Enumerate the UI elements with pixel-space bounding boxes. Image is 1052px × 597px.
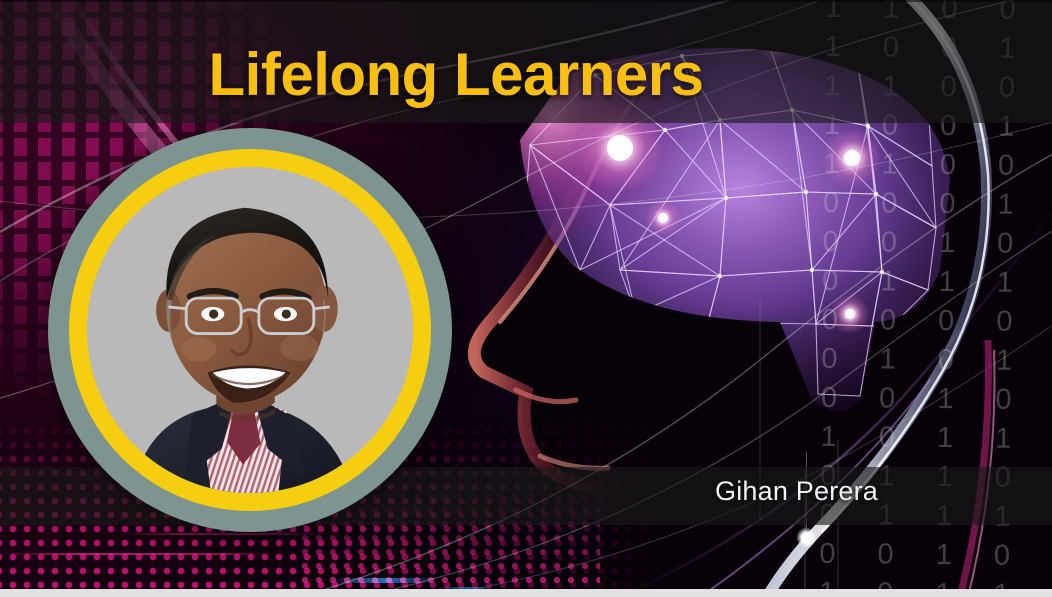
avatar: [48, 128, 452, 532]
avatar-ring-yellow: [69, 149, 431, 511]
page-title: Lifelong Learners: [0, 40, 1052, 109]
top-edge: [0, 0, 1052, 2]
circuit-trace: [120, 533, 320, 535]
circuit-trace-blue: [329, 578, 442, 583]
glowing-node-dot: [797, 528, 816, 547]
speaker-name: Gihan Perera: [715, 476, 878, 507]
presentation-slide: 1 1 0 0 0 0 0 1 0 0 1 0 1 1 1 1 0 0 0 0 …: [0, 0, 1052, 597]
avatar-photo: [87, 167, 413, 493]
circuit-trace: [0, 553, 270, 555]
bottom-edge-bar: [0, 589, 1052, 597]
